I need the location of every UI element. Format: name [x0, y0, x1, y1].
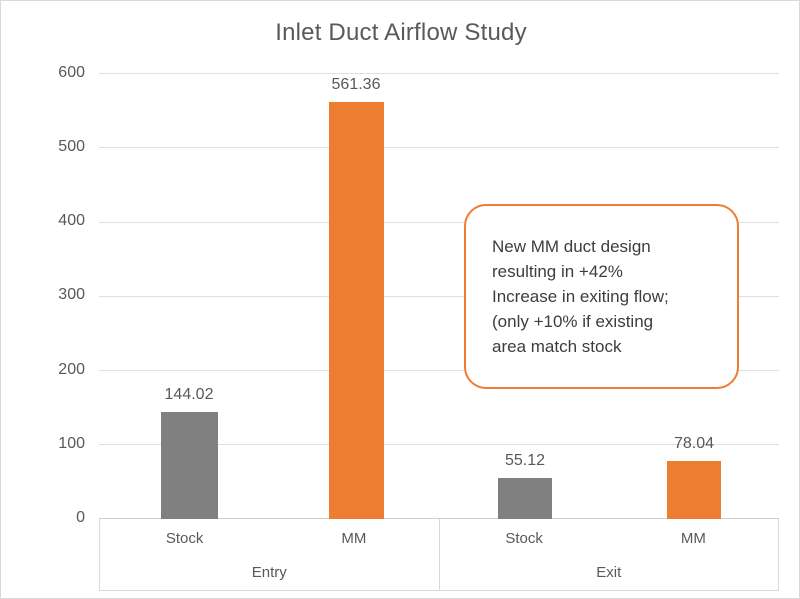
annotation-text: New MM duct design resulting in +42% Inc…	[492, 234, 737, 359]
y-tick-300: 300	[25, 287, 85, 303]
chart-title: Inlet Duct Airflow Study	[1, 19, 800, 47]
y-tick-100: 100	[25, 436, 85, 452]
y-tick-200: 200	[25, 362, 85, 378]
y-tick-500: 500	[25, 139, 85, 155]
y-tick-0: 0	[25, 510, 85, 526]
x-group-label-exit: Exit	[440, 559, 779, 590]
bar-label-entry-stock: 144.02	[134, 386, 244, 404]
y-tick-600: 600	[25, 65, 85, 81]
bar-label-entry-mm: 561.36	[301, 76, 411, 94]
y-tick-400: 400	[25, 213, 85, 229]
x-label-entry-mm: MM	[269, 519, 438, 559]
chart-canvas: Inlet Duct Airflow Study Flow Rate (CFM)…	[0, 0, 800, 599]
bar-entry-stock[interactable]	[161, 412, 218, 519]
gridline-500	[99, 147, 779, 148]
bar-exit-mm[interactable]	[667, 461, 721, 519]
x-axis-category-table: Stock MM Entry Stock MM Exit	[99, 519, 779, 591]
category-subrow-entry: Stock MM	[100, 519, 439, 559]
y-axis-tick-labels: 600 500 400 300 200 100 0	[23, 73, 85, 519]
x-label-entry-stock: Stock	[100, 519, 269, 559]
bar-exit-stock[interactable]	[498, 478, 552, 519]
x-label-exit-stock: Stock	[440, 519, 609, 559]
category-group-exit: Stock MM Exit	[439, 519, 779, 590]
bar-label-exit-stock: 55.12	[470, 452, 580, 470]
x-group-label-entry: Entry	[100, 559, 439, 590]
category-group-entry: Stock MM Entry	[100, 519, 439, 590]
category-subrow-exit: Stock MM	[440, 519, 779, 559]
bar-entry-mm[interactable]	[329, 102, 384, 519]
gridline-600	[99, 73, 779, 74]
x-label-exit-mm: MM	[609, 519, 778, 559]
annotation-callout[interactable]: New MM duct design resulting in +42% Inc…	[464, 204, 739, 389]
bar-label-exit-mm: 78.04	[639, 435, 749, 453]
